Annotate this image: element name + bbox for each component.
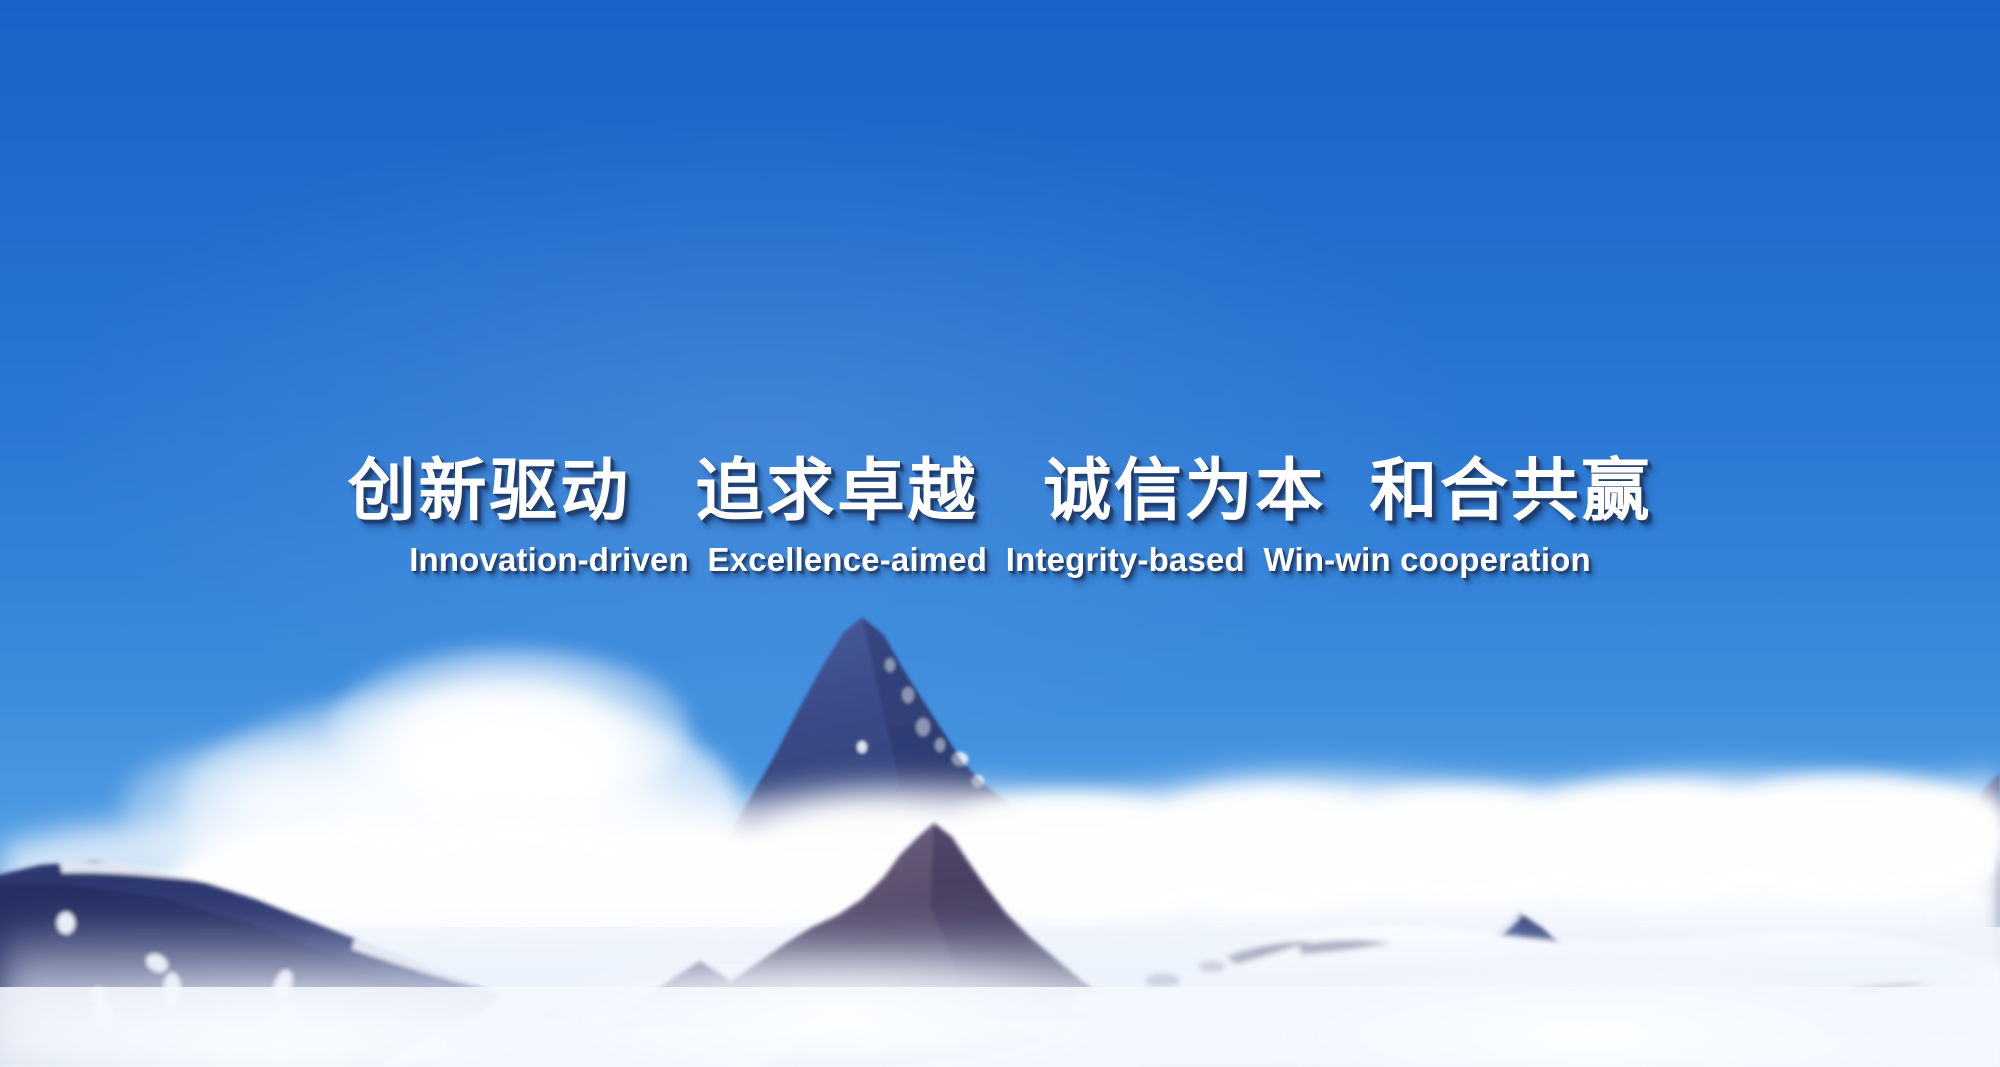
hero-banner: 创新驱动 追求卓越 诚信为本 和合共赢 Innovation-driven Ex…: [0, 0, 2000, 1067]
sky-background: [0, 0, 2000, 1067]
